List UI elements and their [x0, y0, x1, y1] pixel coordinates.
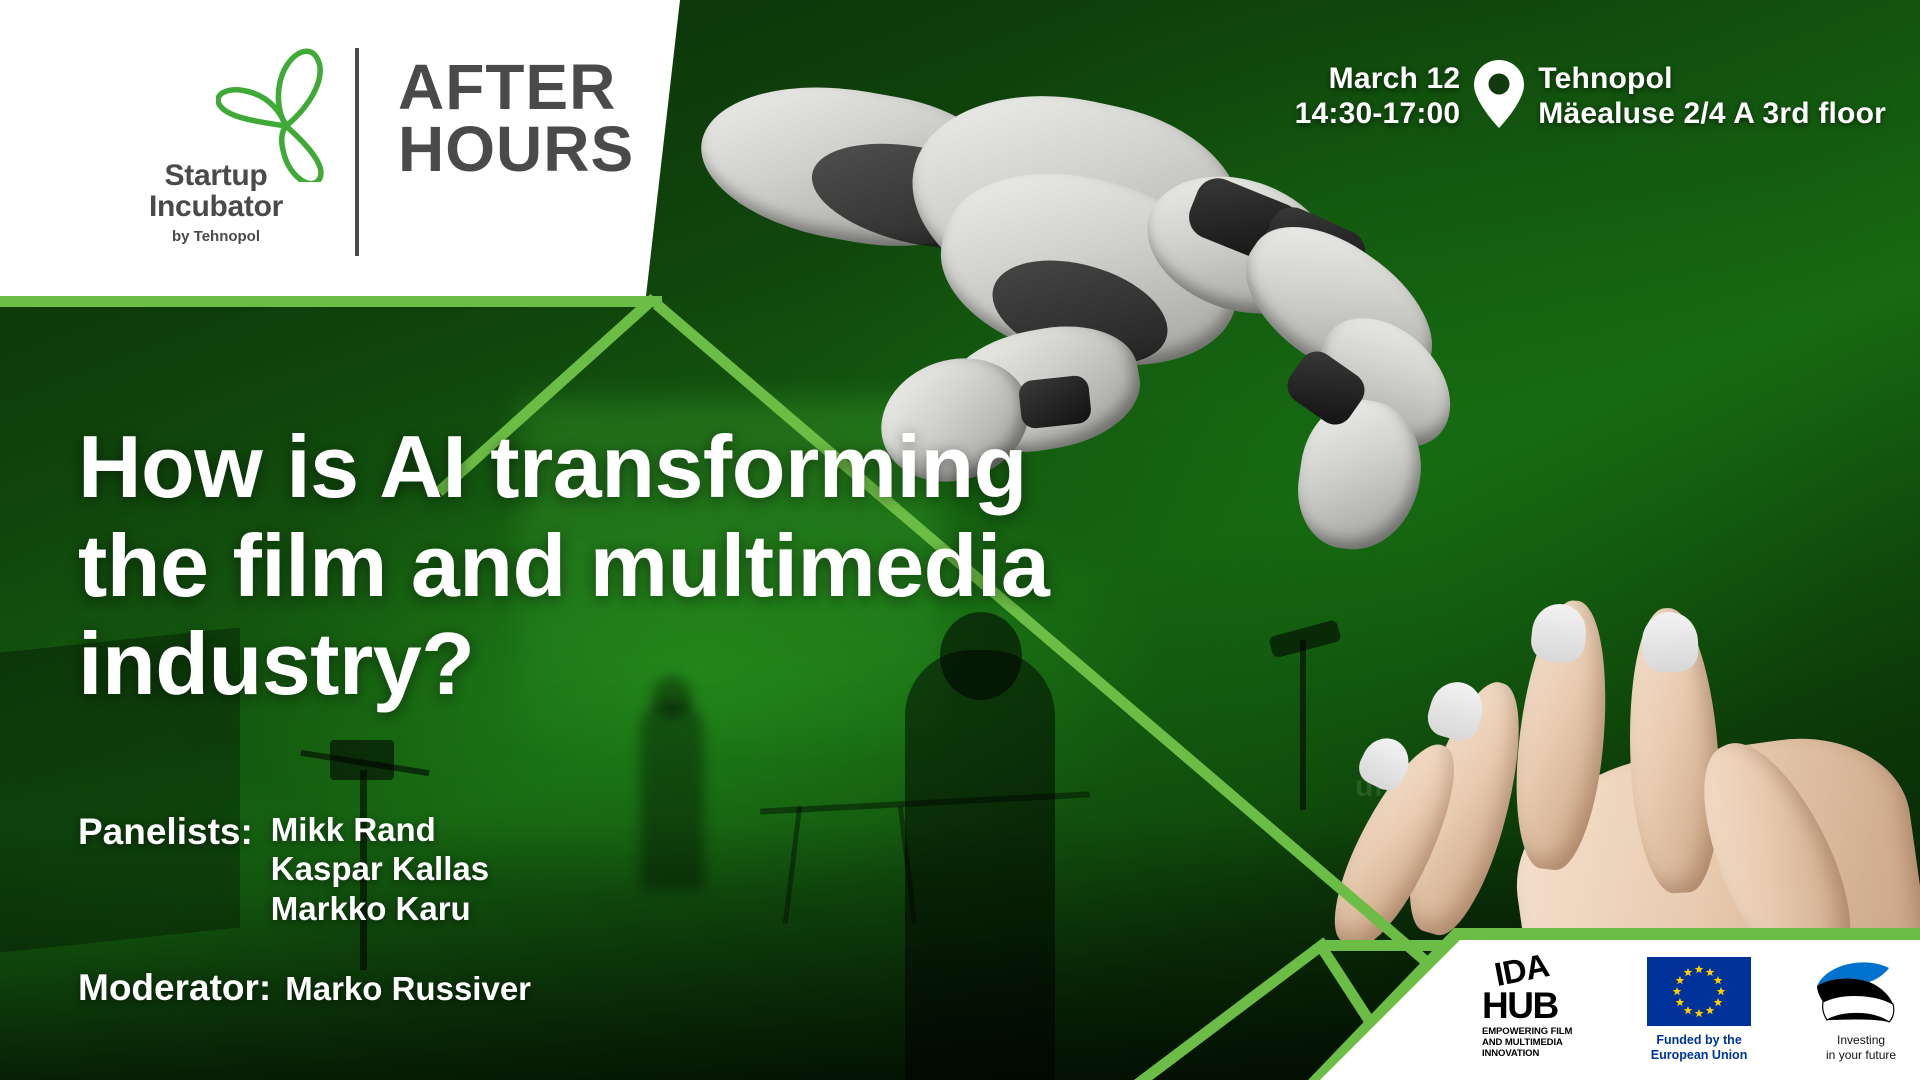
startup-incubator-logo[interactable]: Startup Incubator by Tehnopol — [96, 42, 336, 242]
series-title: AFTER HOURS — [398, 56, 634, 180]
event-info-block: March 12 14:30-17:00 Tehnopol Mäealuse 2… — [1295, 62, 1886, 132]
moderator-name: Marko Russiver — [285, 970, 531, 1008]
event-datetime: March 12 14:30-17:00 — [1295, 62, 1461, 132]
event-venue: Tehnopol Mäealuse 2/4 A 3rd floor — [1538, 62, 1886, 132]
event-banner: unsplash+ unsplash+ — [0, 0, 1920, 1080]
logo-line-1: Startup — [96, 160, 336, 191]
moderator-label: Moderator: — [78, 966, 271, 1010]
accent-line-under-header — [0, 296, 662, 307]
idahub-word-1: IDA — [1492, 942, 1594, 991]
idahub-tagline-line-3: INNOVATION — [1482, 1048, 1596, 1059]
logo-line-2: Incubator — [96, 191, 336, 222]
event-date: March 12 — [1295, 62, 1461, 97]
event-time: 14:30-17:00 — [1295, 97, 1461, 132]
studio-light — [330, 740, 394, 780]
headline-line-3: industry? — [78, 615, 1138, 714]
series-title-line-2: HOURS — [398, 118, 634, 180]
moderator-row: Moderator: Marko Russiver — [78, 966, 531, 1010]
european-union-flag-icon — [1647, 957, 1751, 1026]
idahub-tagline-line-2: AND MULTIMEDIA — [1482, 1037, 1596, 1048]
header-panel: Startup Incubator by Tehnopol AFTER HOUR… — [0, 0, 680, 296]
idahub-tagline: EMPOWERING FILM AND MULTIMEDIA INNOVATIO… — [1482, 1026, 1596, 1060]
estonia-caption-line-2: in your future — [1802, 1048, 1920, 1063]
location-pin-icon — [1472, 58, 1526, 130]
estonia-caption: Investing in your future — [1802, 1033, 1920, 1062]
logo-divider — [355, 48, 359, 256]
eu-caption-line-1: Funded by the — [1642, 1033, 1756, 1048]
idahub-tagline-line-1: EMPOWERING FILM — [1482, 1026, 1596, 1037]
logo-subtitle: by Tehnopol — [96, 228, 336, 245]
panelist-name: Mikk Rand — [271, 810, 489, 849]
panelist-name: Markko Karu — [271, 889, 489, 928]
venue-name: Tehnopol — [1538, 62, 1886, 97]
idahub-logo[interactable]: IDA HUB EMPOWERING FILM AND MULTIMEDIA I… — [1482, 960, 1596, 1059]
estonia-flag-swoosh-icon — [1813, 958, 1909, 1028]
eu-caption-line-2: European Union — [1642, 1048, 1756, 1063]
panelist-name: Kaspar Kallas — [271, 849, 489, 888]
panelists-label: Panelists: — [78, 810, 253, 854]
eu-funding-logo[interactable]: Funded by the European Union — [1642, 957, 1756, 1063]
headline-line-1: How is AI transforming — [78, 418, 1138, 517]
estonia-logo[interactable]: Investing in your future — [1802, 958, 1920, 1062]
mic-stand — [1300, 640, 1306, 810]
eu-caption: Funded by the European Union — [1642, 1033, 1756, 1063]
panelists-names: Mikk Rand Kaspar Kallas Markko Karu — [271, 810, 489, 928]
headline: How is AI transforming the film and mult… — [78, 418, 1138, 714]
panelists-row: Panelists: Mikk Rand Kaspar Kallas Markk… — [78, 810, 531, 928]
idahub-word-2: HUB — [1482, 989, 1596, 1022]
credits-block: Panelists: Mikk Rand Kaspar Kallas Markk… — [78, 810, 531, 1009]
venue-address: Mäealuse 2/4 A 3rd floor — [1538, 97, 1886, 132]
headline-line-2: the film and multimedia — [78, 517, 1138, 616]
estonia-caption-line-1: Investing — [1802, 1033, 1920, 1048]
footer-logos: IDA HUB EMPOWERING FILM AND MULTIMEDIA I… — [1320, 940, 1920, 1080]
